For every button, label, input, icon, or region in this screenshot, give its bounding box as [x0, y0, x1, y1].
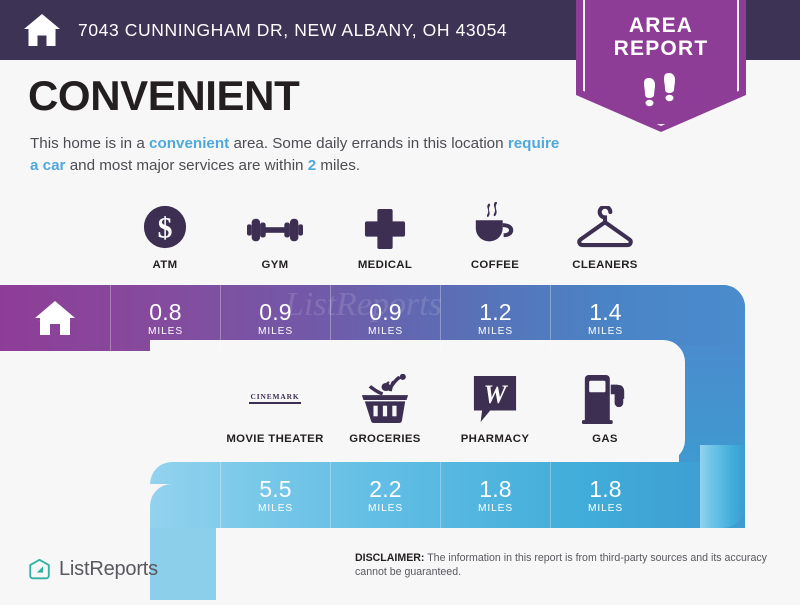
distance-unit: MILES — [368, 326, 403, 337]
row-1-home-cell — [0, 285, 110, 351]
distance-value: 5.5 — [259, 477, 292, 502]
distance-unit: MILES — [478, 326, 513, 337]
distance-cell: 1.2 MILES — [440, 285, 550, 351]
page-subtitle: This home is in a convenient area. Some … — [30, 133, 560, 177]
category-label: MOVIE THEATER — [226, 433, 323, 445]
distance-row-1: 0.8 MILES 0.9 MILES 0.9 MILES 1.2 MILES … — [0, 285, 660, 351]
svg-text:W: W — [484, 380, 509, 409]
subtitle-part-2: area. Some daily errands in this locatio… — [229, 135, 508, 152]
distance-value: 2.2 — [369, 477, 402, 502]
cinemark-rule — [249, 402, 301, 404]
cinemark-logo-icon: CINEMARK — [249, 372, 301, 424]
home-icon — [22, 10, 62, 50]
grocery-basket-icon — [360, 372, 410, 424]
badge-line-2: REPORT — [576, 37, 746, 60]
distance-cell: 0.8 MILES — [110, 285, 220, 351]
row-2-spacer — [150, 462, 220, 528]
page-title: CONVENIENT — [28, 72, 299, 120]
distance-value: 0.9 — [369, 300, 402, 325]
distance-value: 1.8 — [589, 477, 622, 502]
subtitle-highlight-1: convenient — [149, 135, 229, 152]
distance-row-2: 5.5 MILES 2.2 MILES 1.8 MILES 1.8 MILES — [150, 462, 660, 528]
subtitle-part-4: miles. — [316, 157, 360, 174]
distance-cell: 5.5 MILES — [220, 462, 330, 528]
subtitle-highlight-3: 2 — [308, 157, 316, 174]
listreports-logo: ListReports — [28, 558, 158, 581]
category-label: CLEANERS — [572, 259, 637, 271]
category-label: PHARMACY — [461, 433, 530, 445]
property-address: 7043 CUNNINGHAM DR, NEW ALBANY, OH 43054 — [78, 20, 507, 41]
category-cleaners: CLEANERS — [550, 198, 660, 271]
atm-dollar-icon: $ — [142, 198, 188, 250]
dumbbell-icon — [247, 198, 303, 250]
category-gym: GYM — [220, 198, 330, 271]
subtitle-part-3: and most major services are within — [65, 157, 307, 174]
distance-cell: 2.2 MILES — [330, 462, 440, 528]
distance-unit: MILES — [258, 326, 293, 337]
category-icon-row-2: CINEMARK MOVIE THEATER GROCERIES — [220, 372, 660, 445]
listreports-house-tag-icon — [28, 558, 51, 581]
distance-unit: MILES — [478, 503, 513, 514]
distance-unit: MILES — [588, 326, 623, 337]
category-medical: MEDICAL — [330, 198, 440, 271]
distance-cell: 1.8 MILES — [440, 462, 550, 528]
category-label: MEDICAL — [358, 259, 412, 271]
category-movie-theater: CINEMARK MOVIE THEATER — [220, 372, 330, 445]
medical-cross-icon — [364, 198, 406, 250]
area-report-badge: AREA REPORT — [576, 0, 746, 132]
category-pharmacy: W PHARMACY — [440, 372, 550, 445]
distance-unit: MILES — [368, 503, 403, 514]
category-icon-row-1: $ ATM GYM MEDICAL — [110, 198, 660, 271]
cinemark-wordmark: CINEMARK — [250, 392, 299, 401]
category-coffee: COFFEE — [440, 198, 550, 271]
distance-cell: 1.8 MILES — [550, 462, 660, 528]
category-label: GAS — [592, 433, 618, 445]
category-label: GROCERIES — [349, 433, 421, 445]
gas-pump-icon — [581, 372, 629, 424]
clothes-hanger-icon — [575, 198, 635, 250]
category-gas: GAS — [550, 372, 660, 445]
category-groceries: GROCERIES — [330, 372, 440, 445]
category-label: COFFEE — [471, 259, 519, 271]
distance-unit: MILES — [588, 503, 623, 514]
disclaimer: DISCLAIMER: The information in this repo… — [355, 551, 785, 579]
distance-unit: MILES — [148, 326, 183, 337]
logo-text: ListReports — [59, 558, 158, 581]
disclaimer-label: DISCLAIMER: — [355, 552, 424, 564]
coffee-cup-icon — [471, 198, 519, 250]
distance-value: 1.4 — [589, 300, 622, 325]
home-icon — [33, 298, 77, 338]
distance-value: 1.8 — [479, 477, 512, 502]
subtitle-part-1: This home is in a — [30, 135, 149, 152]
badge-line-1: AREA — [576, 14, 746, 37]
distance-value: 0.9 — [259, 300, 292, 325]
distance-cell: 0.9 MILES — [220, 285, 330, 351]
svg-text:$: $ — [158, 213, 173, 245]
category-atm: $ ATM — [110, 198, 220, 271]
distance-cell: 0.9 MILES — [330, 285, 440, 351]
distance-value: 1.2 — [479, 300, 512, 325]
category-label: ATM — [153, 259, 178, 271]
category-label: GYM — [262, 259, 289, 271]
distance-cell: 1.4 MILES — [550, 285, 660, 351]
walgreens-w-icon: W — [472, 372, 518, 424]
footprints-icon — [639, 72, 683, 117]
distance-unit: MILES — [258, 503, 293, 514]
distance-value: 0.8 — [149, 300, 182, 325]
